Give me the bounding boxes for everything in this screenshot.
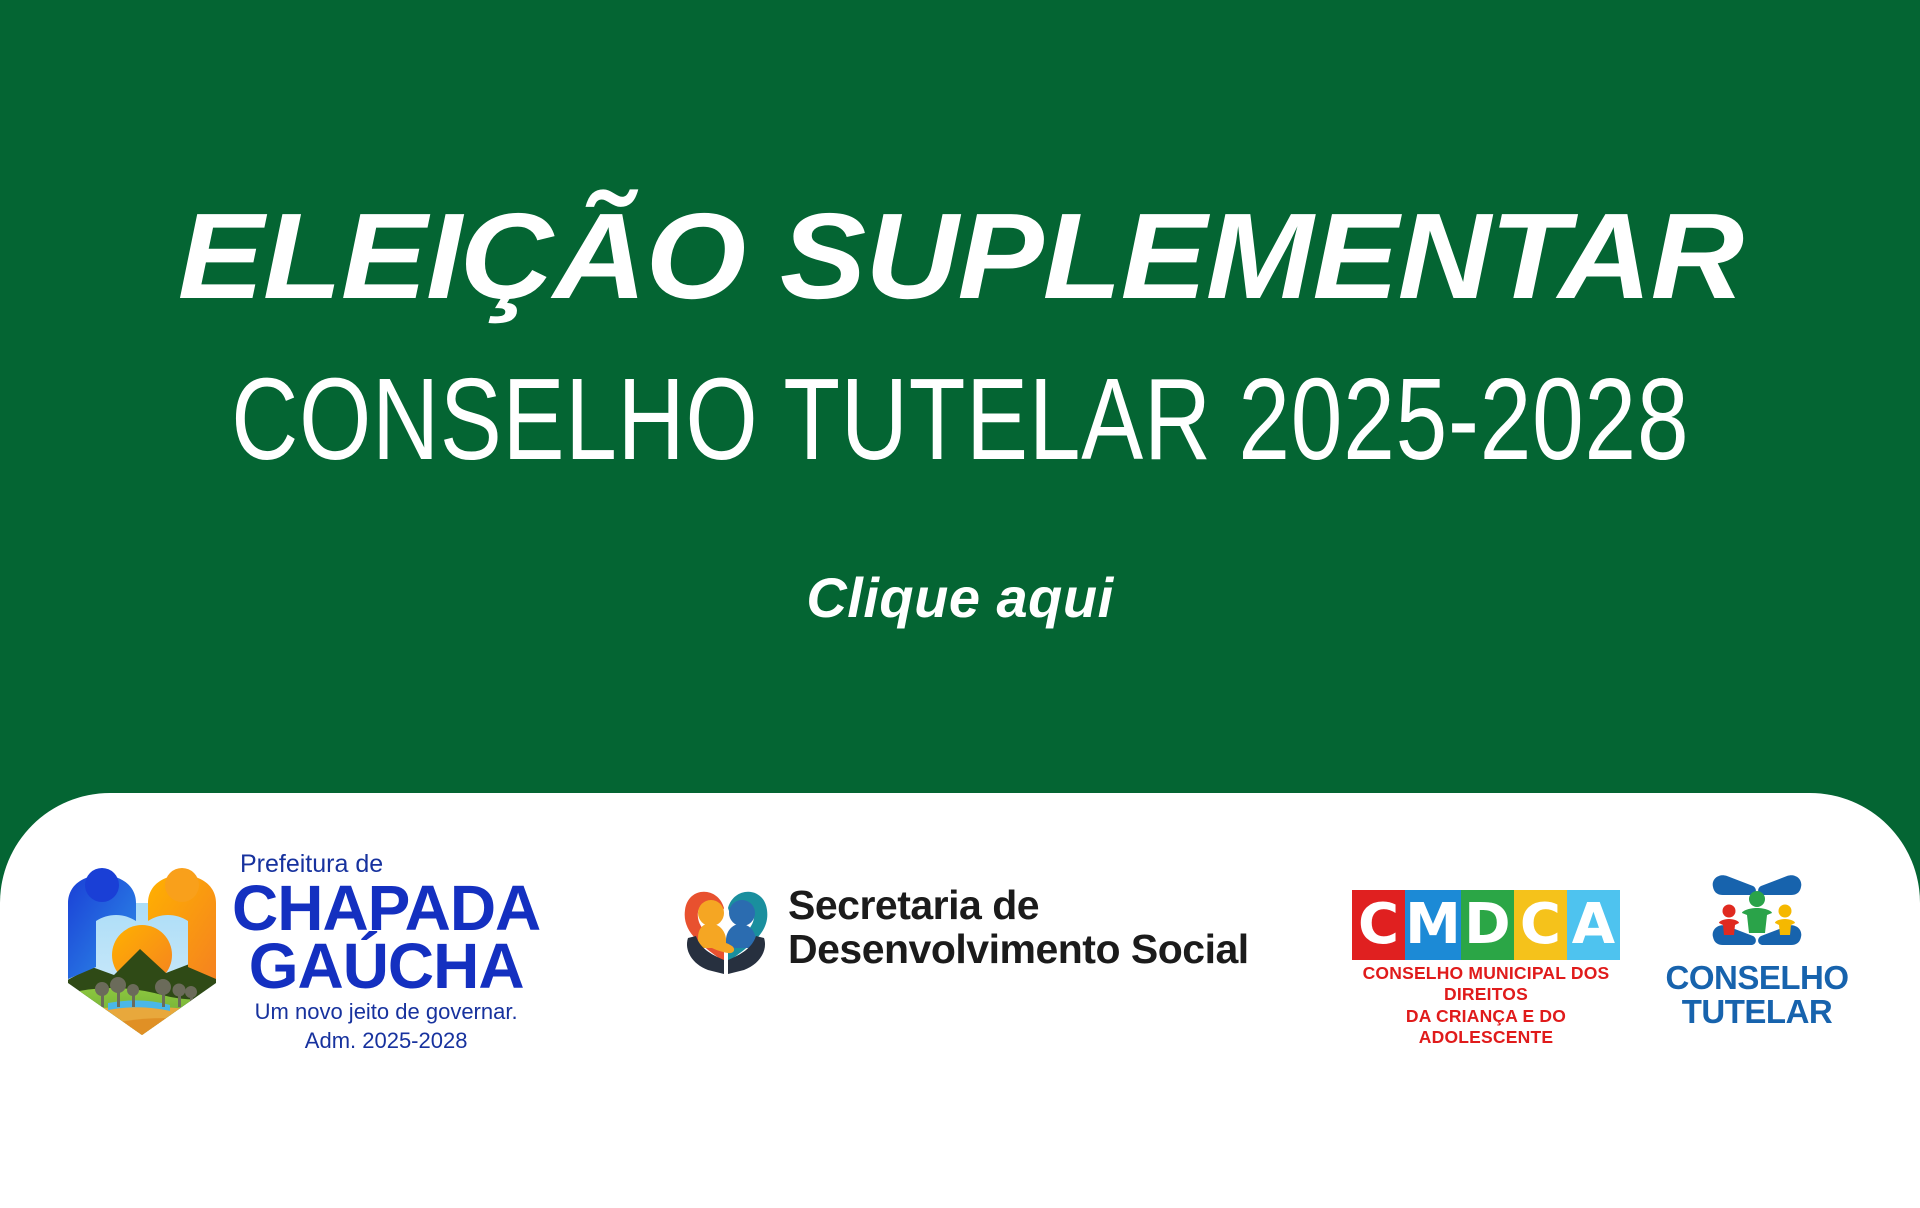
conselho-tutelar-line1: CONSELHO (1666, 961, 1849, 995)
cmdca-letter-blocks: C M D C A (1352, 890, 1620, 960)
cmdca-subtitle-line1: CONSELHO MUNICIPAL DOS DIREITOS (1352, 963, 1620, 1006)
cmdca-letter-block: C (1352, 890, 1405, 960)
prefeitura-tagline-line2: Adm. 2025-2028 (305, 1028, 468, 1053)
cmdca-subtitle-line2: DA CRIANÇA E DO ADOLESCENTE (1352, 1006, 1620, 1049)
page-subtitle: CONSELHO TUTELAR 2025-2028 (231, 361, 1689, 477)
conselho-tutelar-text: CONSELHO TUTELAR (1666, 961, 1849, 1028)
cmdca-letter-block: M (1405, 890, 1461, 960)
prefeitura-text-block: Prefeitura de CHAPADA GAÚCHA Um novo jei… (232, 851, 540, 1053)
logo-secretaria-desenvolvimento-social[interactable]: Secretaria de Desenvolvimento Social (678, 878, 1249, 978)
secretaria-text-block: Secretaria de Desenvolvimento Social (788, 884, 1249, 972)
secretaria-line2: Desenvolvimento Social (788, 928, 1249, 972)
conselho-tutelar-line2: TUTELAR (1666, 995, 1849, 1029)
clique-aqui-link[interactable]: Clique aqui (806, 565, 1113, 630)
cmdca-letter-block: C (1514, 890, 1567, 960)
conselho-tutelar-icon (1697, 853, 1817, 957)
logo-row: Prefeitura de CHAPADA GAÚCHA Um novo jei… (0, 793, 1920, 1093)
footer-panel: Prefeitura de CHAPADA GAÚCHA Um novo jei… (0, 793, 1920, 1208)
logo-prefeitura-chapada-gaucha[interactable]: Prefeitura de CHAPADA GAÚCHA Um novo jei… (62, 851, 540, 1053)
prefeitura-name-line2: GAÚCHA (249, 937, 524, 996)
cmdca-letter-block: D (1461, 890, 1514, 960)
election-banner: ELEIÇÃO SUPLEMENTAR CONSELHO TUTELAR 202… (0, 0, 1920, 1208)
prefeitura-tagline-line1: Um novo jeito de governar. (255, 999, 518, 1024)
logo-conselho-tutelar[interactable]: CONSELHO TUTELAR (1672, 853, 1842, 1028)
cmdca-letter-block: A (1567, 890, 1620, 960)
page-title: ELEIÇÃO SUPLEMENTAR (177, 195, 1742, 317)
chapada-gaucha-emblem-icon (62, 863, 222, 1041)
cmdca-subtitle: CONSELHO MUNICIPAL DOS DIREITOS DA CRIAN… (1352, 963, 1620, 1048)
logo-cmdca[interactable]: C M D C A CONSELHO MUNICIPAL DOS DIREITO… (1352, 890, 1620, 1048)
heart-hands-icon (678, 878, 774, 978)
prefeitura-name-line1: CHAPADA (232, 879, 540, 938)
secretaria-line1: Secretaria de (788, 884, 1249, 928)
hero-section: ELEIÇÃO SUPLEMENTAR CONSELHO TUTELAR 202… (0, 0, 1920, 800)
